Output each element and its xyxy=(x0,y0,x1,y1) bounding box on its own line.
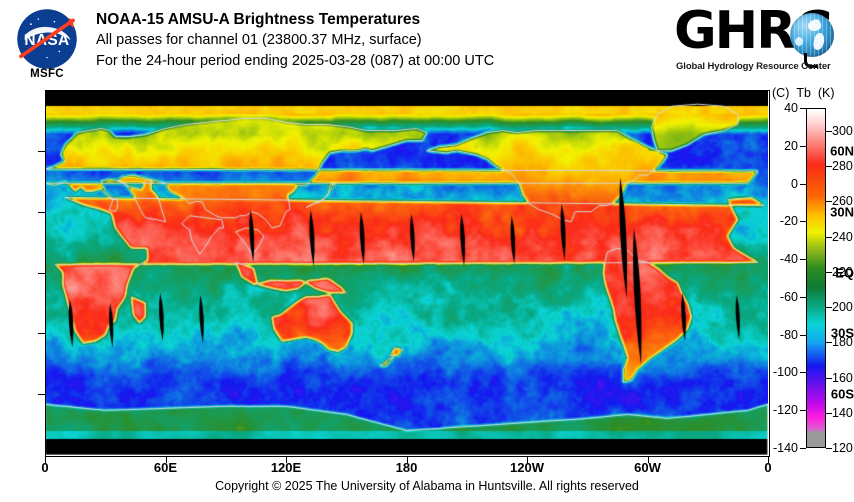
lat-tick xyxy=(38,151,45,152)
colorbar-kelvin-label: 240 xyxy=(832,230,853,244)
colorbar-kelvin-label: 120 xyxy=(832,441,853,455)
ghrc-subtitle: Global Hydrology Resource Center xyxy=(676,61,836,72)
colorbar-celsius-label: -60 xyxy=(762,290,798,304)
nasa-center-label: MSFC xyxy=(10,68,84,80)
lat-tick xyxy=(38,273,45,274)
colorbar-kelvin-label: 140 xyxy=(832,406,853,420)
colorbar-quantity: Tb xyxy=(796,86,811,100)
colorbar-kelvin-label: 300 xyxy=(832,124,853,138)
page-header: NASA MSFC NOAA-15 AMSU-A Brightness Temp… xyxy=(0,0,854,86)
colorbar-kelvin-tick xyxy=(826,131,832,132)
colorbar-celsius-tick xyxy=(800,335,806,336)
colorbar-celsius-label: -20 xyxy=(762,214,798,228)
colorbar-kelvin-tick xyxy=(826,166,832,167)
colorbar-kelvin-tick xyxy=(826,342,832,343)
nasa-logo: NASA MSFC xyxy=(10,6,84,80)
lon-tick xyxy=(166,456,167,463)
colorbar-celsius-tick xyxy=(800,259,806,260)
svg-text:NASA: NASA xyxy=(24,32,69,49)
colorbar-kelvin-label: 160 xyxy=(832,371,853,385)
colorbar-celsius-label: -140 xyxy=(762,441,798,455)
colorbar-celsius-tick xyxy=(800,372,806,373)
copyright-notice: Copyright © 2025 The University of Alaba… xyxy=(0,479,854,493)
colorbar-heading: (C) Tb (K) xyxy=(772,86,854,100)
colorbar-kelvin-tick xyxy=(826,448,832,449)
channel-subtitle: All passes for channel 01 (23800.37 MHz,… xyxy=(96,30,656,51)
colorbar-gradient xyxy=(806,108,826,448)
map-raster xyxy=(45,90,768,455)
colorbar-kelvin-label: 280 xyxy=(832,159,853,173)
lon-tick xyxy=(527,456,528,463)
lon-tick xyxy=(45,456,46,463)
colorbar-kelvin-label: 180 xyxy=(832,335,853,349)
colorbar-unit-celsius: (C) xyxy=(772,86,789,100)
colorbar-celsius-tick xyxy=(800,184,806,185)
period-subtitle: For the 24-hour period ending 2025-03-28… xyxy=(96,51,656,72)
colorbar-kelvin-tick xyxy=(826,201,832,202)
colorbar-celsius-label: 40 xyxy=(762,101,798,115)
colorbar-kelvin-label: 260 xyxy=(832,194,853,208)
lat-tick xyxy=(38,212,45,213)
colorbar-celsius-tick xyxy=(800,108,806,109)
colorbar-celsius-label: -40 xyxy=(762,252,798,266)
colorbar-kelvin-tick xyxy=(826,413,832,414)
colorbar-celsius-tick xyxy=(800,297,806,298)
colorbar-celsius-label: -100 xyxy=(762,365,798,379)
globe-icon xyxy=(790,13,834,57)
colorbar-kelvin-tick xyxy=(826,272,832,273)
nasa-meatball-icon: NASA xyxy=(16,8,78,70)
colorbar-celsius-label: 0 xyxy=(762,177,798,191)
colorbar-kelvin-label: 220 xyxy=(832,265,853,279)
colorbar-celsius-label: 20 xyxy=(762,139,798,153)
colorbar-celsius-label: -80 xyxy=(762,328,798,342)
colorbar-kelvin-label: 200 xyxy=(832,300,853,314)
lon-tick xyxy=(286,456,287,463)
ghrc-logo: GHRC Global Hydrology Resource Center xyxy=(674,5,836,77)
lon-tick xyxy=(407,456,408,463)
colorbar-celsius-tick xyxy=(800,221,806,222)
colorbar-kelvin-tick xyxy=(826,378,832,379)
title-block: NOAA-15 AMSU-A Brightness Temperatures A… xyxy=(96,9,656,72)
colorbar-kelvin-tick xyxy=(826,237,832,238)
page-title: NOAA-15 AMSU-A Brightness Temperatures xyxy=(96,9,656,30)
lon-tick xyxy=(648,456,649,463)
colorbar-celsius-tick xyxy=(800,146,806,147)
brightness-temperature-map xyxy=(45,90,768,455)
colorbar-celsius-tick xyxy=(800,448,806,449)
lat-tick xyxy=(38,333,45,334)
colorbar-unit-kelvin: (K) xyxy=(818,86,835,100)
lat-tick xyxy=(38,394,45,395)
colorbar-celsius-tick xyxy=(800,410,806,411)
colorbar-kelvin-tick xyxy=(826,307,832,308)
colorbar-celsius-label: -120 xyxy=(762,403,798,417)
lon-tick xyxy=(768,456,769,463)
